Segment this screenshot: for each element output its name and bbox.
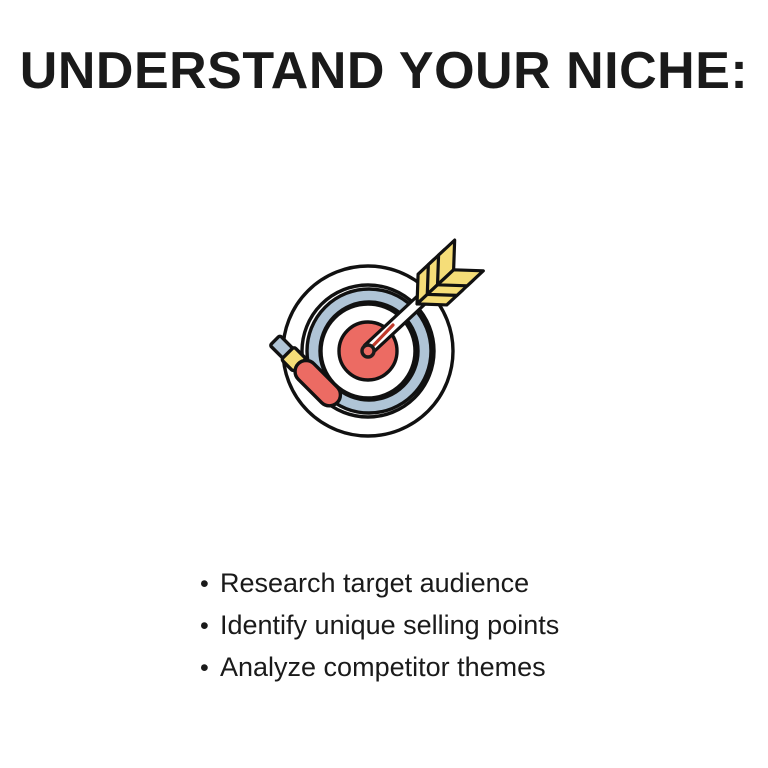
list-item: • Research target audience xyxy=(200,562,620,604)
list-item: • Identify unique selling points xyxy=(200,604,620,646)
target-magnifier-illustration xyxy=(236,208,536,508)
page-title: UNDERSTAND YOUR NICHE: xyxy=(0,44,768,99)
list-item-label: Identify unique selling points xyxy=(220,604,620,646)
bullet-list: • Research target audience • Identify un… xyxy=(200,562,620,688)
bullet-marker-icon: • xyxy=(200,647,220,689)
slide-canvas: UNDERSTAND YOUR NICHE: xyxy=(0,0,768,768)
bullet-marker-icon: • xyxy=(200,563,220,605)
list-item: • Analyze competitor themes xyxy=(200,646,620,688)
target-magnifier-svg xyxy=(236,208,536,508)
list-item-label: Research target audience xyxy=(220,562,620,604)
list-item-label: Analyze competitor themes xyxy=(220,646,620,688)
bullet-marker-icon: • xyxy=(200,605,220,647)
bullseye-center-dot xyxy=(362,345,374,357)
